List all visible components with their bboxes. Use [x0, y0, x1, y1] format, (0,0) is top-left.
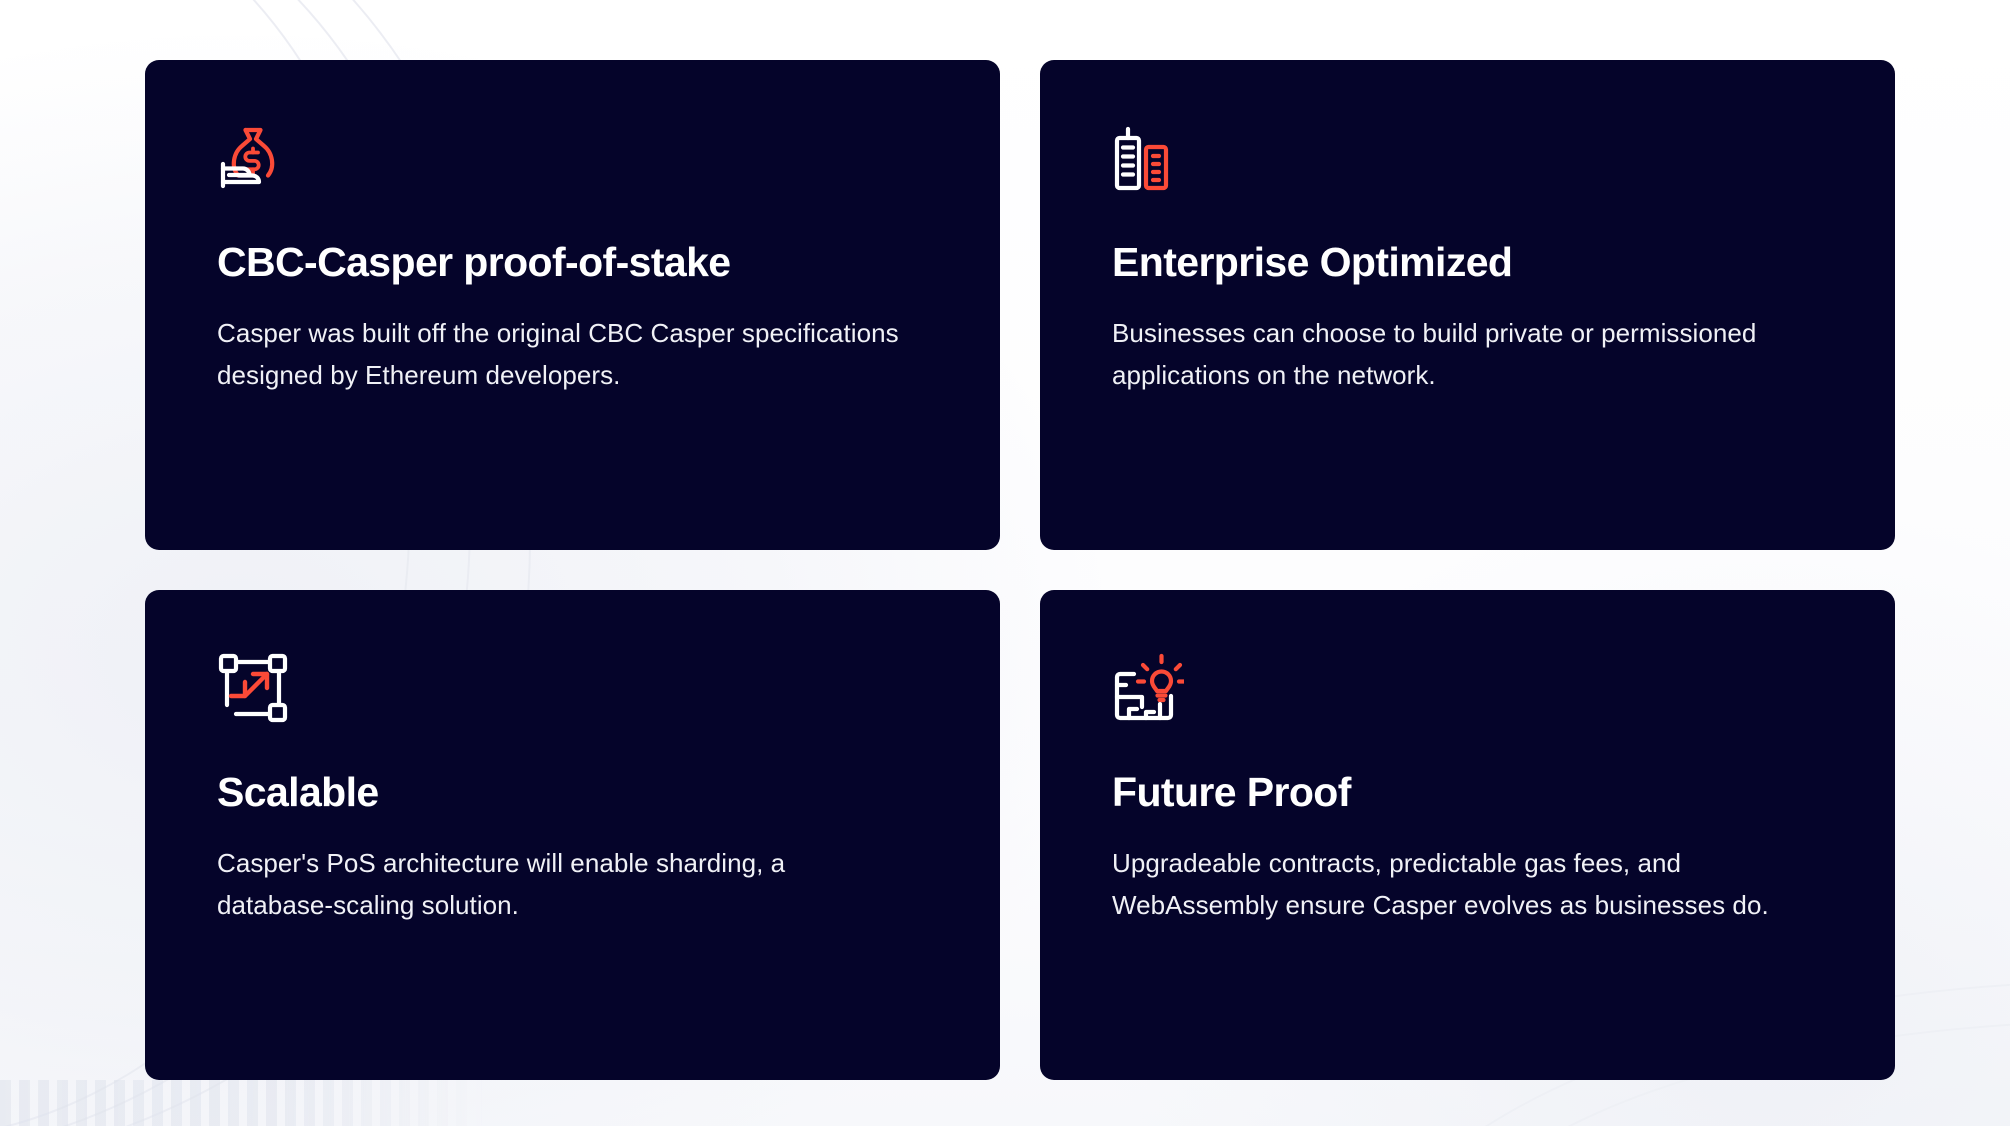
card-title: Future Proof: [1112, 770, 1823, 816]
card-title: CBC-Casper proof-of-stake: [217, 240, 928, 286]
feature-card-cbc-casper[interactable]: CBC-Casper proof-of-stake Casper was bui…: [145, 60, 1000, 550]
background-dotted-strip: [0, 1080, 2010, 1126]
card-body: Casper's PoS architecture will enable sh…: [217, 842, 907, 926]
feature-card-enterprise-optimized[interactable]: Enterprise Optimized Businesses can choo…: [1040, 60, 1895, 550]
feature-card-scalable[interactable]: Scalable Casper's PoS architecture will …: [145, 590, 1000, 1080]
money-bag-hand-icon: [217, 122, 289, 194]
feature-card-grid: CBC-Casper proof-of-stake Casper was bui…: [145, 60, 1895, 1080]
office-buildings-icon: [1112, 122, 1184, 194]
card-body: Casper was built off the original CBC Ca…: [217, 312, 907, 396]
lightbulb-circuit-icon: [1112, 652, 1184, 724]
feature-cards-section: CBC-Casper proof-of-stake Casper was bui…: [0, 0, 2010, 1126]
feature-card-future-proof[interactable]: Future Proof Upgradeable contracts, pred…: [1040, 590, 1895, 1080]
card-body: Upgradeable contracts, predictable gas f…: [1112, 842, 1802, 926]
card-body: Businesses can choose to build private o…: [1112, 312, 1802, 396]
card-title: Scalable: [217, 770, 928, 816]
card-title: Enterprise Optimized: [1112, 240, 1823, 286]
scale-expand-arrow-icon: [217, 652, 289, 724]
